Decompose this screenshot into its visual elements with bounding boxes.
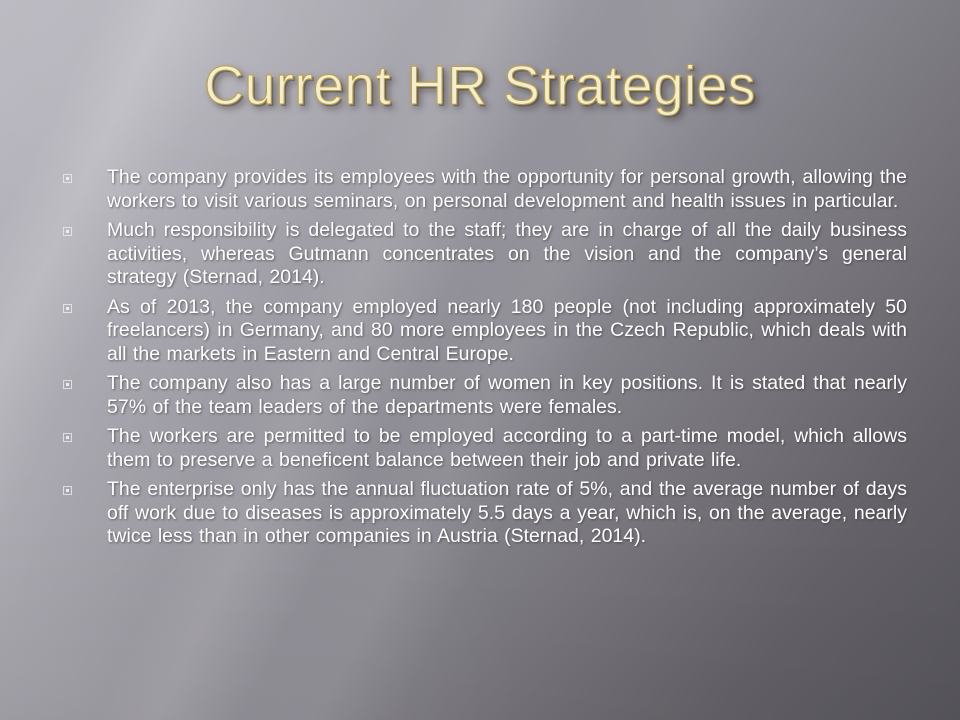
presentation-slide: Current HR Strategies The company provid… (0, 0, 960, 720)
square-in-square-bullet-icon (62, 485, 75, 498)
list-item: The enterprise only has the annual fluct… (62, 478, 907, 549)
square-in-square-bullet-icon (62, 303, 75, 316)
square-in-square-bullet-icon (62, 432, 75, 445)
list-item-text: As of 2013, the company employed nearly … (107, 296, 907, 367)
list-item: Much responsibility is delegated to the … (62, 219, 907, 290)
slide-title: Current HR Strategies (0, 53, 960, 117)
list-item-text: The workers are permitted to be employed… (107, 425, 907, 472)
list-item-text: Much responsibility is delegated to the … (107, 219, 907, 290)
list-item-text: The enterprise only has the annual fluct… (107, 478, 907, 549)
list-item-text: The company also has a large number of w… (107, 372, 907, 419)
list-item: The company provides its employees with … (62, 166, 907, 213)
list-item: The company also has a large number of w… (62, 372, 907, 419)
square-in-square-bullet-icon (62, 226, 75, 239)
list-item: As of 2013, the company employed nearly … (62, 296, 907, 367)
list-item: The workers are permitted to be employed… (62, 425, 907, 472)
square-in-square-bullet-icon (62, 379, 75, 392)
bullet-list: The company provides its employees with … (62, 166, 907, 555)
list-item-text: The company provides its employees with … (107, 166, 907, 213)
square-in-square-bullet-icon (62, 173, 75, 186)
